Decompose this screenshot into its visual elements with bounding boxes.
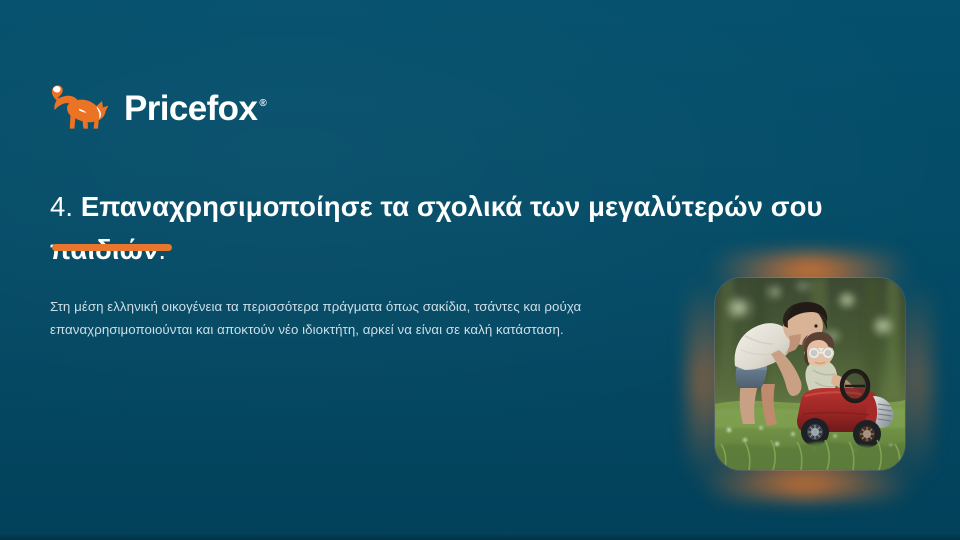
body-paragraph: Στη μέση ελληνική οικογένεια τα περισσότ…	[50, 296, 690, 341]
slide-bottom-edge	[0, 534, 960, 540]
photo-image	[715, 278, 905, 470]
pricefox-logo[interactable]: Pricefox ®	[50, 82, 265, 132]
fox-icon	[50, 84, 112, 130]
photo-container	[694, 258, 926, 490]
logo-wordmark-group: Pricefox ®	[124, 90, 265, 125]
headline-number: 4.	[50, 191, 73, 222]
registered-trademark-mark: ®	[259, 98, 266, 109]
headline-main-text: Επαναχρησιμοποίησε τα σχολικά των μεγαλύ…	[81, 191, 823, 222]
photo-boys-pedal-car	[715, 278, 905, 470]
slide: Pricefox ® 4. Επαναχρησιμοποίησε τα σχολ…	[0, 0, 960, 540]
logo-wordmark: Pricefox	[124, 91, 257, 126]
headline-accent-underline	[52, 244, 172, 251]
